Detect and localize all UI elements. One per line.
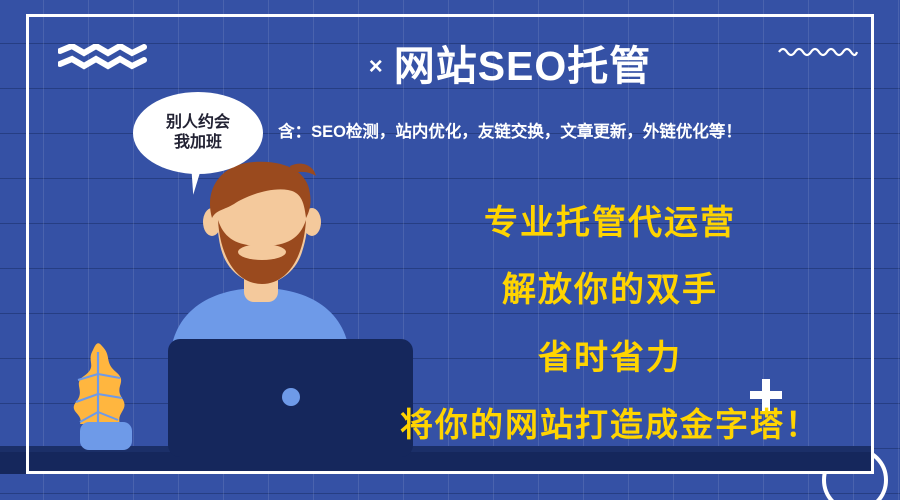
selling-point-1: 专业托管代运营 <box>420 195 800 244</box>
speech-bubble-text: 别人约会 我加班 <box>133 92 263 174</box>
speech-bubble: 别人约会 我加班 <box>133 92 263 174</box>
laptop-logo-icon <box>282 388 300 406</box>
potted-plant-icon <box>50 340 160 455</box>
selling-point-2: 解放你的双手 <box>420 262 800 311</box>
speech-bubble-line-2: 我加班 <box>174 133 222 153</box>
speech-bubble-line-1: 别人约会 <box>166 113 230 133</box>
selling-point-4: 将你的网站打造成金字塔！ <box>370 398 850 446</box>
headline-text: 网站SEO托管 <box>394 43 652 89</box>
subheadline: 含：SEO检测，站内优化，友链交换，文章更新，外链优化等！ <box>250 118 770 142</box>
seo-hosting-banner: 别人约会 我加班 ×网站SEO托管 含：SEO检测，站内优化，友链交换，文章更新… <box>0 0 900 500</box>
person-illustration <box>150 160 410 360</box>
headline: ×网站SEO托管 <box>300 46 720 87</box>
wave-left-icon <box>58 44 148 70</box>
selling-point-3: 省时省力 <box>420 330 800 379</box>
wave-right-icon <box>778 44 858 58</box>
desk <box>0 452 872 474</box>
x-mark-icon: × <box>369 53 384 80</box>
